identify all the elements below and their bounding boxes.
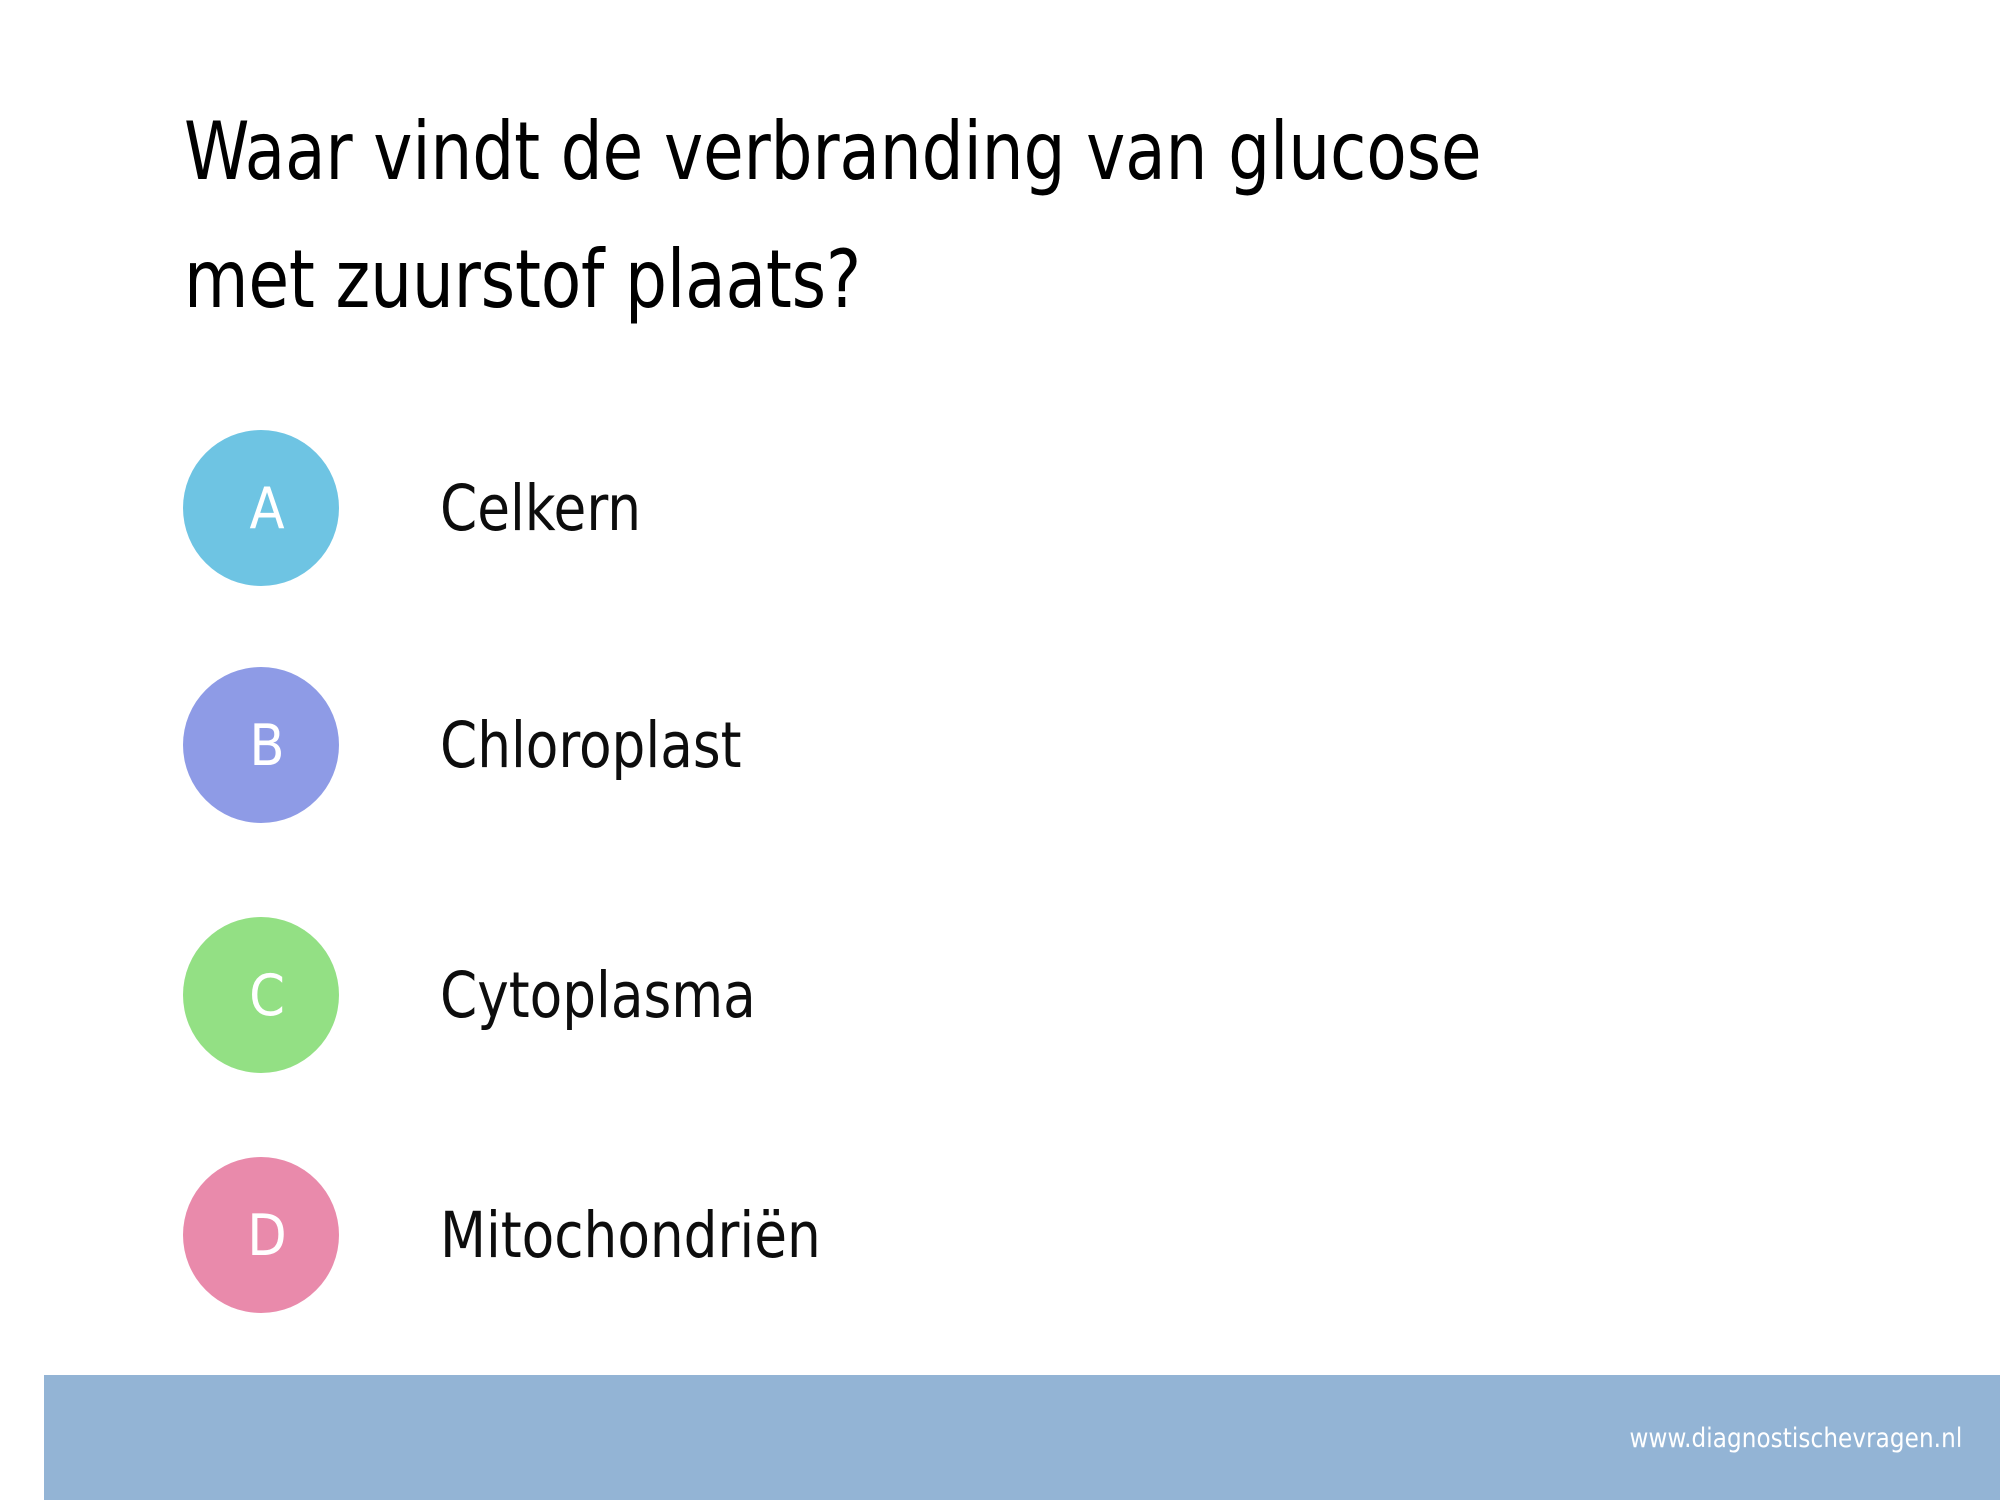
answer-bullet-letter: C: [249, 968, 285, 1025]
answer-option-label: Mitochondriën: [440, 1204, 821, 1267]
answer-bullet-circle-d[interactable]: D: [183, 1157, 339, 1313]
answer-option-a[interactable]: ACelkern: [183, 430, 1783, 586]
answer-option-c[interactable]: CCytoplasma: [183, 917, 1783, 1073]
answer-bullet-letter: A: [249, 481, 284, 538]
answer-bullet-circle-b[interactable]: B: [183, 667, 339, 823]
slide-canvas: Waar vindt de verbranding van glucose me…: [0, 0, 2000, 1500]
answer-option-label: Celkern: [440, 477, 641, 540]
answer-option-label: Chloroplast: [440, 714, 741, 777]
answer-bullet-circle-c[interactable]: C: [183, 917, 339, 1073]
answer-bullet-circle-a[interactable]: A: [183, 430, 339, 586]
answer-option-label: Cytoplasma: [440, 964, 756, 1027]
answer-option-b[interactable]: BChloroplast: [183, 667, 1783, 823]
answer-option-d[interactable]: DMitochondriën: [183, 1157, 1783, 1313]
answer-bullet-letter: D: [247, 1208, 287, 1265]
footer-website-url[interactable]: www.diagnostischevragen.nl: [1629, 1425, 1962, 1452]
footer-bar: www.diagnostischevragen.nl: [44, 1375, 2000, 1500]
page-title: Waar vindt de verbranding van glucose me…: [184, 88, 1748, 344]
answer-bullet-letter: B: [249, 718, 284, 775]
